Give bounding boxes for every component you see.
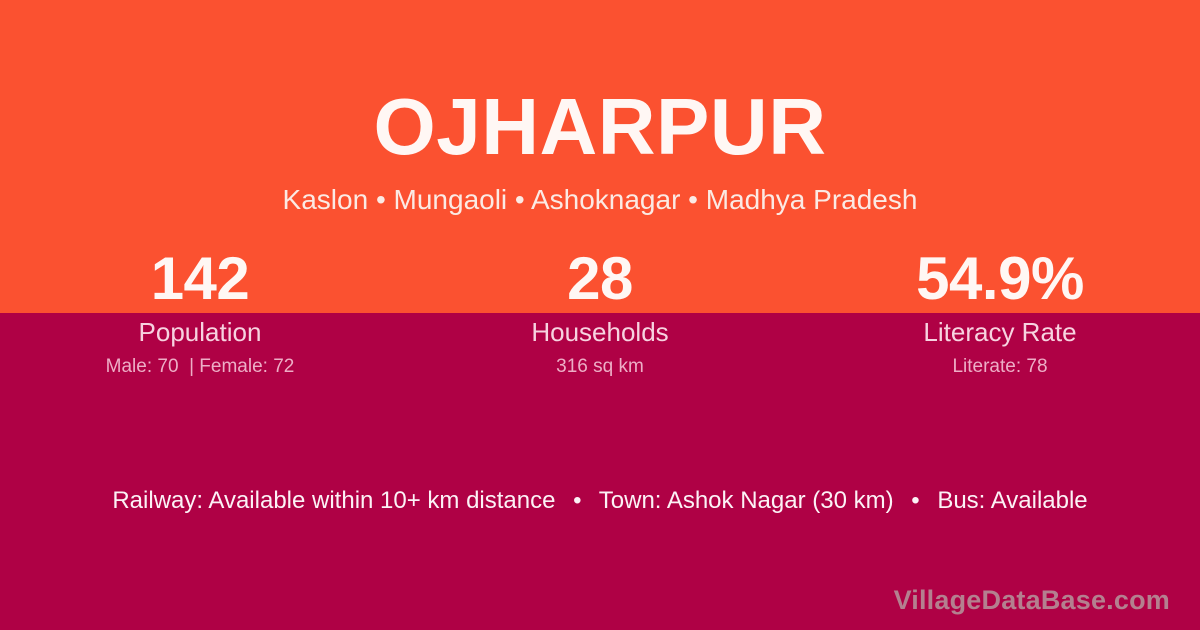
stat-sublabel: Male: 70 | Female: 72 — [0, 355, 400, 379]
stat-value: 54.9% — [800, 245, 1200, 313]
amenity-separator-icon: • — [900, 486, 930, 516]
stat-label: Population — [0, 316, 400, 348]
amenities-line: Railway: Available within 10+ km distanc… — [0, 486, 1200, 516]
stats-row: 142 Population Male: 70 | Female: 72 28 … — [0, 245, 1200, 379]
breadcrumb: Kaslon • Mungaoli • Ashoknagar • Madhya … — [0, 183, 1200, 217]
site-watermark: VillageDataBase.com — [894, 584, 1170, 616]
stat-population: 142 Population Male: 70 | Female: 72 — [0, 245, 400, 379]
stat-value: 28 — [400, 245, 800, 313]
stat-value: 142 — [0, 245, 400, 313]
page-title: OJHARPUR — [0, 82, 1200, 172]
amenity-railway: Railway: Available within 10+ km distanc… — [112, 487, 555, 514]
amenity-bus: Bus: Available — [937, 487, 1087, 514]
village-info-card: OJHARPUR Kaslon • Mungaoli • Ashoknagar … — [0, 0, 1200, 630]
stat-sublabel: 316 sq km — [400, 355, 800, 379]
stat-literacy-rate: 54.9% Literacy Rate Literate: 78 — [800, 245, 1200, 379]
stat-label: Households — [400, 316, 800, 348]
stat-households: 28 Households 316 sq km — [400, 245, 800, 379]
stat-sublabel: Literate: 78 — [800, 355, 1200, 379]
stat-label: Literacy Rate — [800, 316, 1200, 348]
amenity-separator-icon: • — [562, 486, 592, 516]
amenity-town: Town: Ashok Nagar (30 km) — [599, 487, 894, 514]
